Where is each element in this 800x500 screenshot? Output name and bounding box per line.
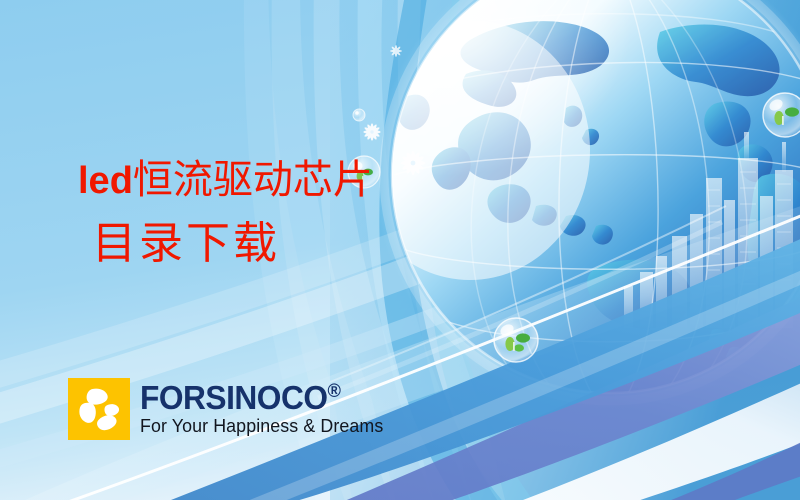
- headline-latin: led: [78, 160, 133, 202]
- bubble-icon: [494, 318, 538, 362]
- logo-tagline: For Your Happiness & Dreams: [140, 416, 383, 437]
- headline-text: led恒流驱动芯片 目录下载: [78, 158, 373, 268]
- headline-line-2: 目录下载: [92, 220, 373, 268]
- logo-wordmark: FORSINOCO® For Your Happiness & Dreams: [140, 378, 386, 437]
- headline-cjk: 恒流驱动芯片: [133, 157, 373, 202]
- bubble-icon: [763, 93, 800, 137]
- flower-icon: [390, 45, 402, 57]
- company-logo: FORSINOCO® For Your Happiness & Dreams: [68, 378, 386, 440]
- bubble-icon: [353, 109, 365, 121]
- pinwheel-icon: [68, 378, 130, 440]
- headline-line-1: led恒流驱动芯片: [78, 158, 373, 202]
- logo-company-name: FORSINOCO®: [140, 381, 376, 414]
- registered-icon: ®: [328, 381, 341, 402]
- logo-company-text: FORSINOCO: [140, 379, 328, 416]
- forsinoco-pinwheel-mark: [68, 378, 130, 440]
- slide-canvas: led恒流驱动芯片 目录下载 FORSINOCO® For Your Happ: [0, 0, 800, 500]
